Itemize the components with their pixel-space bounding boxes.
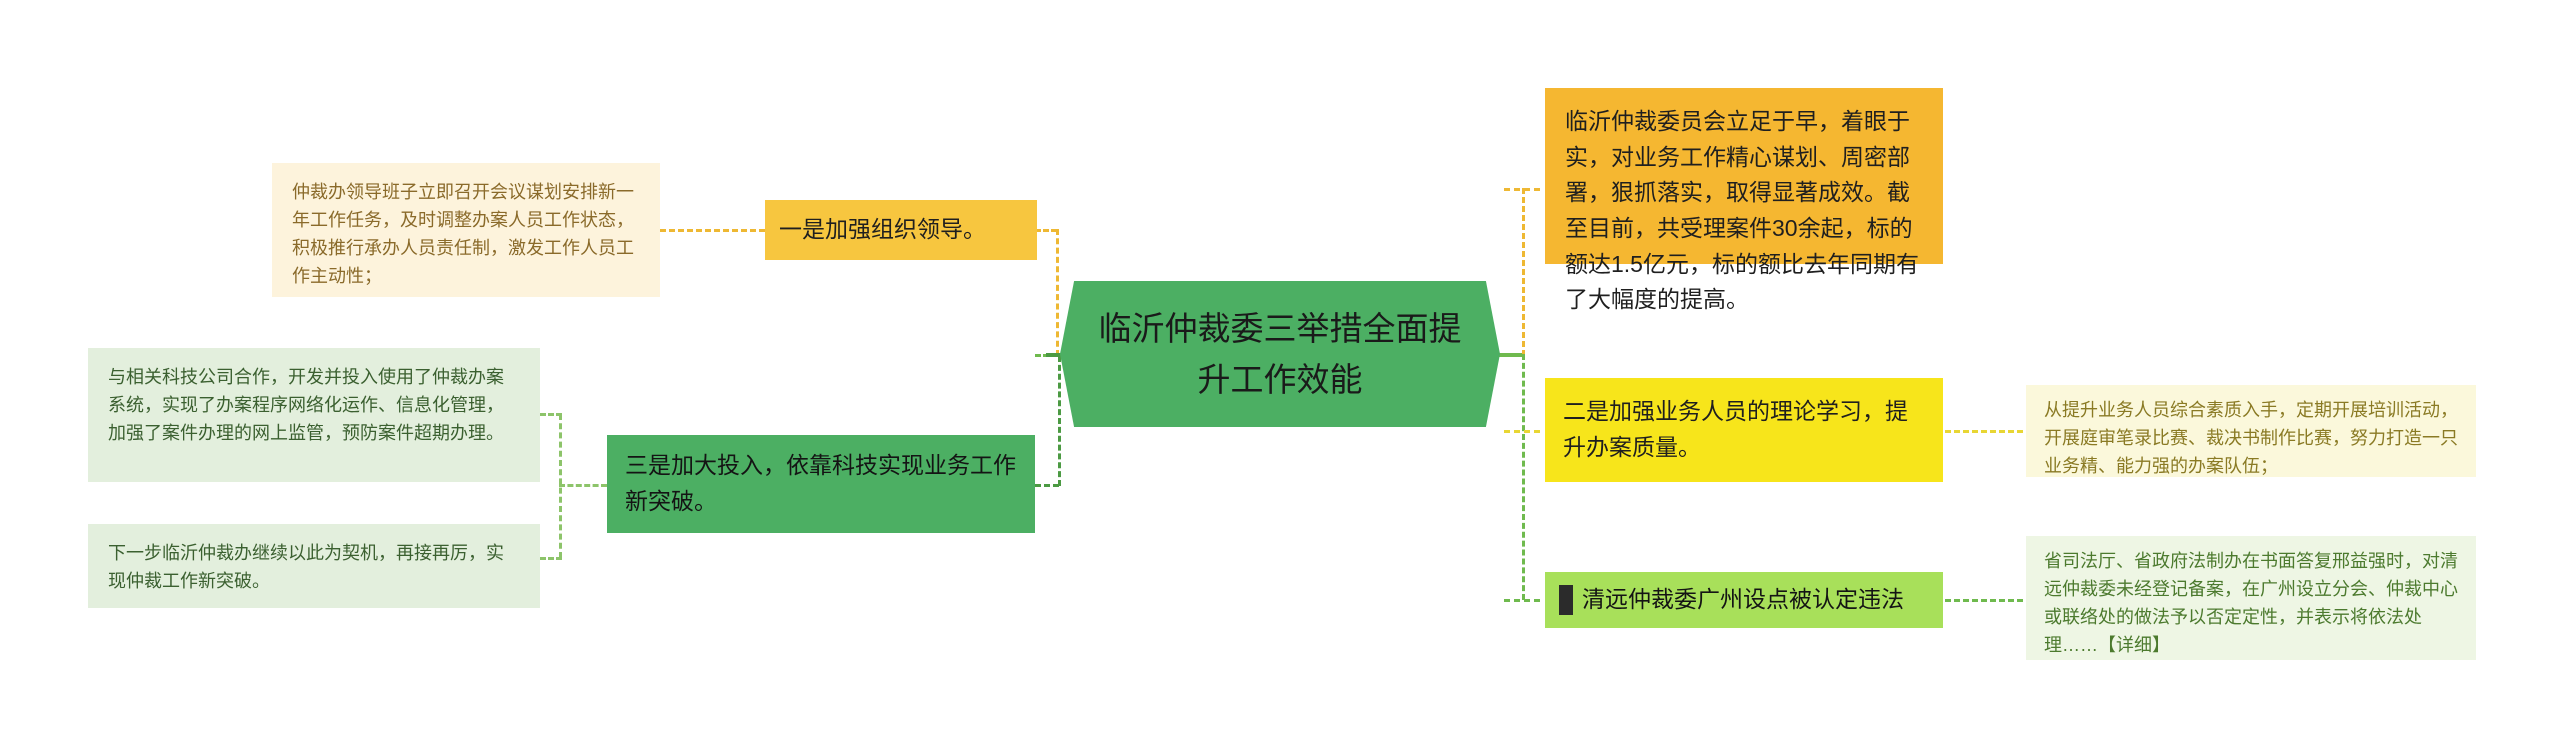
related-news-detail-text: 省司法厅、省政府法制办在书面答复邢益强时，对清远仲裁委未经登记备案，在广州设立分… bbox=[2044, 548, 2458, 660]
related-news-label: 清远仲裁委广州设点被认定违法 bbox=[1582, 582, 1904, 618]
center-node[interactable]: 临沂仲裁委三举措全面提升工作效能 bbox=[1060, 281, 1500, 427]
connector-spine-to-measure2 bbox=[1504, 430, 1540, 433]
measure-three-node[interactable]: 三是加大投入，依靠科技实现业务工作新突破。 bbox=[607, 435, 1035, 533]
connector-measure3-stub bbox=[1035, 484, 1059, 487]
measure-three-label: 三是加大投入，依靠科技实现业务工作新突破。 bbox=[625, 448, 1017, 519]
summary-node[interactable]: 临沂仲裁委员会立足于早，着眼于实，对业务工作精心谋划、周密部署，狠抓落实，取得显… bbox=[1545, 88, 1943, 264]
measure-two-label: 二是加强业务人员的理论学习，提升办案质量。 bbox=[1563, 394, 1925, 465]
connector-detail1-to-measure1 bbox=[660, 229, 765, 232]
connector-spine-to-summary bbox=[1504, 188, 1540, 191]
measure-one-detail[interactable]: 仲裁办领导班子立即召开会议谋划安排新一年工作任务，及时调整办案人员工作状态，积极… bbox=[272, 163, 660, 297]
measure-one-node[interactable]: 一是加强组织领导。 bbox=[765, 200, 1037, 260]
measure-three-detail-a[interactable]: 与相关科技公司合作，开发并投入使用了仲裁办案系统，实现了办案程序网络化运作、信息… bbox=[88, 348, 540, 482]
measure-three-detail-a-text: 与相关科技公司合作，开发并投入使用了仲裁办案系统，实现了办案程序网络化运作、信息… bbox=[108, 364, 520, 448]
related-news-node[interactable]: 清远仲裁委广州设点被认定违法 bbox=[1545, 572, 1943, 628]
connector-detail3b-stub bbox=[540, 557, 562, 560]
mindmap-canvas: 临沂仲裁委三举措全面提升工作效能 一是加强组织领导。 仲裁办领导班子立即召开会议… bbox=[0, 0, 2560, 742]
connector-right-spine-upper bbox=[1522, 188, 1525, 356]
connector-spine-to-related bbox=[1504, 599, 1540, 602]
connector-measure1-vertical bbox=[1056, 229, 1059, 356]
measure-one-detail-text: 仲裁办领导班子立即召开会议谋划安排新一年工作任务，及时调整办案人员工作状态，积极… bbox=[292, 179, 640, 291]
connector-center-right-anchor bbox=[1497, 353, 1523, 357]
connector-detail3a-stub bbox=[540, 413, 562, 416]
block-bullet-icon bbox=[1559, 585, 1573, 615]
summary-label: 临沂仲裁委员会立足于早，着眼于实，对业务工作精心谋划、周密部署，狠抓落实，取得显… bbox=[1565, 104, 1923, 318]
connector-related-to-detail bbox=[1945, 599, 2023, 602]
measure-two-detail-text: 从提升业务人员综合素质入手，定期开展培训活动，开展庭审笔录比赛、裁决书制作比赛，… bbox=[2044, 397, 2458, 481]
connector-measure1-stub bbox=[1035, 229, 1057, 232]
connector-left-details-to-measure3 bbox=[559, 484, 607, 487]
measure-one-label: 一是加强组织领导。 bbox=[779, 212, 986, 248]
related-news-detail[interactable]: 省司法厅、省政府法制办在书面答复邢益强时，对清远仲裁委未经登记备案，在广州设立分… bbox=[2026, 536, 2476, 660]
center-node-label: 临沂仲裁委三举措全面提升工作效能 bbox=[1094, 303, 1466, 405]
measure-three-detail-b[interactable]: 下一步临沂仲裁办继续以此为契机，再接再厉，实现仲裁工作新突破。 bbox=[88, 524, 540, 608]
connector-right-spine-lower bbox=[1522, 354, 1525, 600]
measure-two-node[interactable]: 二是加强业务人员的理论学习，提升办案质量。 bbox=[1545, 378, 1943, 482]
connector-measure2-to-detail bbox=[1945, 430, 2023, 433]
measure-three-detail-b-text: 下一步临沂仲裁办继续以此为契机，再接再厉，实现仲裁工作新突破。 bbox=[108, 540, 520, 596]
connector-measure3-vertical bbox=[1058, 356, 1061, 486]
measure-two-detail[interactable]: 从提升业务人员综合素质入手，定期开展培训活动，开展庭审笔录比赛、裁决书制作比赛，… bbox=[2026, 385, 2476, 477]
